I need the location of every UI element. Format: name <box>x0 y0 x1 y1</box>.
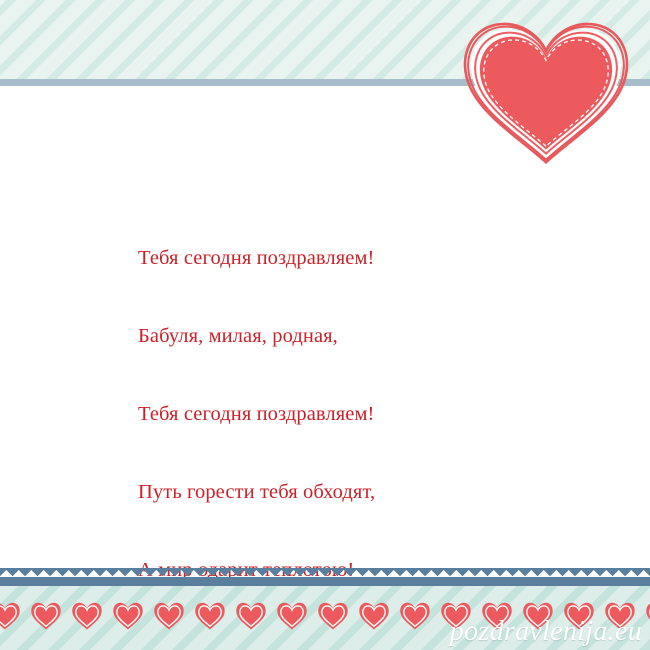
mini-heart-icon <box>645 601 650 631</box>
poem-line: Тебя сегодня поздравляем! <box>138 245 558 271</box>
mini-heart-icon <box>399 601 431 631</box>
mini-heart-icon <box>0 601 21 631</box>
mini-heart-icon <box>153 601 185 631</box>
poem-line: Бабуля, милая, родная, <box>138 323 558 349</box>
poem-line: Тебя сегодня поздравляем! <box>138 401 558 427</box>
mini-heart-icon <box>235 601 267 631</box>
mini-heart-icon <box>112 601 144 631</box>
mini-heart-icon <box>358 601 390 631</box>
mini-heart-icon <box>276 601 308 631</box>
mini-heart-icon <box>317 601 349 631</box>
bottom-divider-rule <box>0 577 650 586</box>
mini-heart-icon <box>30 601 62 631</box>
greeting-card: Тебя сегодня поздравляем! Бабуля, милая,… <box>0 0 650 650</box>
mini-heart-icon <box>71 601 103 631</box>
poem-line: Путь горести тебя обходят, <box>138 479 558 505</box>
watermark-label: pozdravlenija.eu <box>450 616 642 648</box>
mini-heart-icon <box>194 601 226 631</box>
